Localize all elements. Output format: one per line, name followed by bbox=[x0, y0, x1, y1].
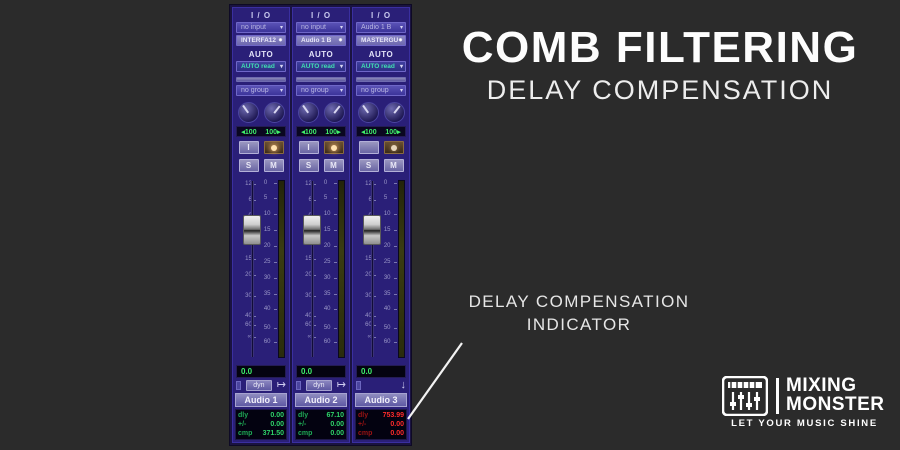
level-meter: 05101520253035405060 bbox=[264, 177, 286, 363]
level-meter: 05101520253035405060 bbox=[324, 177, 346, 363]
input-select[interactable]: no input▾ bbox=[296, 22, 346, 33]
record-arm-button[interactable] bbox=[324, 141, 344, 154]
meter-scale-label: 0 bbox=[384, 180, 387, 186]
meter-bar bbox=[398, 180, 405, 358]
delay-value: 0.00 bbox=[330, 429, 344, 438]
input-record-row: I bbox=[233, 138, 289, 156]
delay-key: cmp bbox=[298, 429, 312, 438]
delay-row: cmp0.00 bbox=[298, 429, 344, 438]
pan-knob-left[interactable] bbox=[358, 102, 379, 123]
chevron-down-icon: ▾ bbox=[280, 86, 283, 96]
automation-mode-select[interactable]: AUTO read▾ bbox=[236, 61, 286, 72]
strip-resize-handle[interactable] bbox=[236, 381, 241, 390]
meter-tick bbox=[274, 278, 277, 279]
input-record-row: I bbox=[293, 138, 349, 156]
meter-tick bbox=[274, 198, 277, 199]
input-select[interactable]: Audio 1 B▾ bbox=[356, 22, 406, 33]
delay-row: cmp0.00 bbox=[358, 429, 404, 438]
meter-scale-label: 15 bbox=[324, 227, 331, 233]
meter-tick bbox=[274, 183, 277, 184]
pan-value-display: ◂100100▸ bbox=[236, 126, 286, 137]
meter-scale-label: 15 bbox=[264, 227, 271, 233]
pan-knob-left[interactable] bbox=[238, 102, 259, 123]
mute-button[interactable]: M bbox=[324, 159, 344, 172]
meter-scale-label: 60 bbox=[264, 339, 271, 345]
pan-value-display: ◂100100▸ bbox=[356, 126, 406, 137]
chevron-down-icon: ▾ bbox=[280, 62, 283, 72]
record-arm-button[interactable] bbox=[384, 141, 404, 154]
knob-row bbox=[233, 98, 289, 125]
knob-row bbox=[293, 98, 349, 125]
meter-scale: 05101520253035405060 bbox=[384, 177, 397, 363]
logo-tagline: LET YOUR MUSIC SHINE bbox=[722, 418, 887, 429]
meter-scale-label: 10 bbox=[384, 211, 391, 217]
meter-scale-label: 25 bbox=[324, 259, 331, 265]
meter-bar bbox=[278, 180, 285, 358]
group-select[interactable]: no group▾ bbox=[356, 85, 406, 96]
input-monitor-button[interactable]: I bbox=[299, 141, 319, 154]
delay-compensation-indicator: dly67.10+/-0.00cmp0.00 bbox=[295, 409, 347, 440]
volume-fader[interactable]: 12605101520304060∞ bbox=[356, 177, 382, 363]
channel-name-label[interactable]: Audio 2 bbox=[295, 393, 347, 407]
fader-handle[interactable] bbox=[303, 215, 321, 245]
pan-value-right: 100▸ bbox=[325, 128, 340, 136]
meter-scale-label: 0 bbox=[324, 180, 327, 186]
section-divider bbox=[296, 77, 346, 82]
fader-meter-area: 12605101520304060∞05101520253035405060 bbox=[233, 174, 289, 363]
volume-fader[interactable]: 12605101520304060∞ bbox=[296, 177, 322, 363]
meter-scale-label: 20 bbox=[384, 243, 391, 249]
meter-tick bbox=[334, 278, 337, 279]
meter-scale: 05101520253035405060 bbox=[264, 177, 277, 363]
chevron-down-icon: ▾ bbox=[340, 62, 343, 72]
meter-tick bbox=[394, 309, 397, 310]
delay-compensation-indicator: dly0.00+/-0.00cmp371.50 bbox=[235, 409, 287, 440]
automation-mode-select[interactable]: AUTO read▾ bbox=[356, 61, 406, 72]
io-section-label: I / O bbox=[233, 8, 289, 22]
pan-value-display: ◂100100▸ bbox=[296, 126, 346, 137]
delay-value: 371.50 bbox=[263, 429, 284, 438]
fader-track bbox=[311, 181, 314, 357]
input-record-row bbox=[353, 138, 409, 156]
delay-key: dly bbox=[238, 411, 248, 420]
meter-scale-label: 35 bbox=[264, 291, 271, 297]
screenshot-root: I / Ono input▾INTERFA12⁕AUTOAUTO read▾no… bbox=[0, 0, 900, 450]
meter-scale-label: 10 bbox=[324, 211, 331, 217]
delay-row: cmp371.50 bbox=[238, 429, 284, 438]
group-select[interactable]: no group▾ bbox=[296, 85, 346, 96]
meter-scale-label: 5 bbox=[264, 195, 267, 201]
delay-key: cmp bbox=[358, 429, 372, 438]
fader-meter-area: 12605101520304060∞05101520253035405060 bbox=[293, 174, 349, 363]
logo-name-line-1: MIXING bbox=[786, 376, 885, 395]
meter-scale-label: 40 bbox=[264, 306, 271, 312]
callout-label: DELAY COMPENSATION INDICATOR bbox=[440, 290, 718, 336]
pan-knob-right[interactable] bbox=[384, 102, 405, 123]
meter-scale-label: 40 bbox=[384, 306, 391, 312]
gain-display[interactable]: 0.0 bbox=[236, 365, 286, 378]
delay-key: +/- bbox=[238, 420, 246, 429]
meter-tick bbox=[394, 294, 397, 295]
logo-name-line-2: MONSTER bbox=[786, 395, 885, 414]
io-section-label: I / O bbox=[353, 8, 409, 22]
delay-value: 0.00 bbox=[270, 420, 284, 429]
output-pin-icon: ⁕ bbox=[278, 36, 283, 46]
delay-row: dly753.99 bbox=[358, 411, 404, 420]
delay-row: +/-0.00 bbox=[358, 420, 404, 429]
page-subtitle: DELAY COMPENSATION bbox=[436, 74, 884, 106]
meter-scale-label: 60 bbox=[324, 339, 331, 345]
meter-tick bbox=[394, 278, 397, 279]
meter-scale-label: 50 bbox=[264, 325, 271, 331]
meter-scale-label: 25 bbox=[264, 259, 271, 265]
logo-wordmark: MIXING MONSTER bbox=[786, 376, 885, 414]
volume-fader[interactable]: 12605101520304060∞ bbox=[236, 177, 262, 363]
meter-scale-label: 50 bbox=[384, 325, 391, 331]
pan-value-left: ◂100 bbox=[361, 128, 376, 136]
section-divider bbox=[356, 77, 406, 82]
delay-key: dly bbox=[358, 411, 368, 420]
meter-tick bbox=[334, 342, 337, 343]
meter-tick bbox=[394, 230, 397, 231]
meter-tick bbox=[274, 230, 277, 231]
meter-tick bbox=[334, 230, 337, 231]
knob-row bbox=[353, 98, 409, 125]
meter-tick bbox=[274, 328, 277, 329]
pan-value-left: ◂100 bbox=[241, 128, 256, 136]
dynamics-row: dyn↦ bbox=[293, 379, 349, 393]
meter-scale-label: 5 bbox=[384, 195, 387, 201]
meter-scale-label: 40 bbox=[324, 306, 331, 312]
meter-tick bbox=[394, 262, 397, 263]
meter-tick bbox=[274, 262, 277, 263]
automation-label: AUTO bbox=[353, 48, 409, 61]
delay-row: dly67.10 bbox=[298, 411, 344, 420]
channel-strip-1: I / Ono input▾INTERFA12⁕AUTOAUTO read▾no… bbox=[232, 7, 290, 443]
delay-row: dly0.00 bbox=[238, 411, 284, 420]
output-select[interactable]: INTERFA12⁕ bbox=[236, 35, 286, 46]
meter-scale-label: 25 bbox=[384, 259, 391, 265]
delay-key: +/- bbox=[358, 420, 366, 429]
meter-scale-label: 30 bbox=[384, 275, 391, 281]
solo-button[interactable]: S bbox=[299, 159, 319, 172]
callout-line-1: DELAY COMPENSATION bbox=[440, 290, 718, 313]
meter-tick bbox=[334, 294, 337, 295]
automation-label: AUTO bbox=[293, 48, 349, 61]
input-select[interactable]: no input▾ bbox=[236, 22, 286, 33]
insert-arrow-icon[interactable]: ↦ bbox=[337, 380, 346, 391]
fader-track bbox=[251, 181, 254, 357]
meter-tick bbox=[394, 183, 397, 184]
brand-logo: MIXING MONSTER LET YOUR MUSIC SHINE bbox=[722, 376, 887, 432]
output-pin-icon: ⁕ bbox=[338, 36, 343, 46]
meter-scale-label: 5 bbox=[324, 195, 327, 201]
dynamics-button[interactable]: dyn bbox=[306, 380, 332, 391]
delay-value: 0.00 bbox=[270, 411, 284, 420]
record-arm-button[interactable] bbox=[264, 141, 284, 154]
solo-mute-row: SM bbox=[353, 156, 409, 174]
solo-mute-row: SM bbox=[293, 156, 349, 174]
meter-scale-label: 0 bbox=[264, 180, 267, 186]
chevron-down-icon: ▾ bbox=[400, 62, 403, 72]
callout-line-2: INDICATOR bbox=[440, 313, 718, 336]
pan-knob-left[interactable] bbox=[298, 102, 319, 123]
meter-tick bbox=[334, 183, 337, 184]
logo-divider bbox=[776, 378, 779, 414]
meter-tick bbox=[394, 214, 397, 215]
output-select[interactable]: MASTERGU⁕ bbox=[356, 35, 406, 46]
meter-scale: 05101520253035405060 bbox=[324, 177, 337, 363]
page-title: COMB FILTERING bbox=[436, 24, 884, 72]
delay-value: 0.00 bbox=[390, 429, 404, 438]
chevron-down-icon: ▾ bbox=[400, 23, 403, 33]
insert-arrow-icon[interactable]: ↦ bbox=[277, 380, 286, 391]
pan-value-right: 100▸ bbox=[385, 128, 400, 136]
chevron-down-icon: ▾ bbox=[340, 23, 343, 33]
meter-tick bbox=[334, 328, 337, 329]
meter-tick bbox=[334, 262, 337, 263]
meter-tick bbox=[394, 342, 397, 343]
group-select[interactable]: no group▾ bbox=[236, 85, 286, 96]
section-divider bbox=[236, 77, 286, 82]
delay-key: +/- bbox=[298, 420, 306, 429]
meter-scale-label: 35 bbox=[384, 291, 391, 297]
solo-mute-row: SM bbox=[233, 156, 289, 174]
meter-tick bbox=[394, 246, 397, 247]
dynamics-row: dyn↦ bbox=[233, 379, 289, 393]
mute-button[interactable]: M bbox=[384, 159, 404, 172]
pan-knob-right[interactable] bbox=[324, 102, 345, 123]
meter-tick bbox=[394, 328, 397, 329]
solo-button[interactable]: S bbox=[239, 159, 259, 172]
meter-scale-label: 30 bbox=[324, 275, 331, 281]
meter-tick bbox=[274, 246, 277, 247]
output-pin-icon: ⁕ bbox=[398, 36, 403, 46]
pan-value-left: ◂100 bbox=[301, 128, 316, 136]
delay-row: +/-0.00 bbox=[298, 420, 344, 429]
callout-pointer-line bbox=[400, 335, 470, 425]
solo-button[interactable]: S bbox=[359, 159, 379, 172]
fader-handle[interactable] bbox=[363, 215, 381, 245]
meter-tick bbox=[274, 342, 277, 343]
delay-key: dly bbox=[298, 411, 308, 420]
meter-scale-label: 15 bbox=[384, 227, 391, 233]
channel-strip-2: I / Ono input▾Audio 1 B⁕AUTOAUTO read▾no… bbox=[292, 7, 350, 443]
gain-display[interactable]: 0.0 bbox=[296, 365, 346, 378]
automation-label: AUTO bbox=[233, 48, 289, 61]
chevron-down-icon: ▾ bbox=[340, 86, 343, 96]
io-section-label: I / O bbox=[293, 8, 349, 22]
gain-display[interactable]: 0.0 bbox=[356, 365, 406, 378]
input-monitor-button[interactable] bbox=[359, 141, 379, 154]
pan-value-right: 100▸ bbox=[265, 128, 280, 136]
meter-scale-label: 35 bbox=[324, 291, 331, 297]
mixer-panel: I / Ono input▾INTERFA12⁕AUTOAUTO read▾no… bbox=[229, 4, 412, 446]
meter-tick bbox=[274, 214, 277, 215]
mixer-console-icon bbox=[722, 376, 768, 416]
meter-tick bbox=[394, 198, 397, 199]
pan-knob-right[interactable] bbox=[264, 102, 285, 123]
meter-tick bbox=[274, 294, 277, 295]
fader-track bbox=[371, 181, 374, 357]
meter-scale-label: 30 bbox=[264, 275, 271, 281]
automation-mode-select[interactable]: AUTO read▾ bbox=[296, 61, 346, 72]
meter-tick bbox=[334, 198, 337, 199]
meter-scale-label: 50 bbox=[324, 325, 331, 331]
meter-tick bbox=[334, 246, 337, 247]
input-monitor-button[interactable]: I bbox=[239, 141, 259, 154]
meter-bar bbox=[338, 180, 345, 358]
channel-name-label[interactable]: Audio 1 bbox=[235, 393, 287, 407]
meter-tick bbox=[274, 309, 277, 310]
delay-row: +/-0.00 bbox=[238, 420, 284, 429]
mute-button[interactable]: M bbox=[264, 159, 284, 172]
dynamics-button[interactable]: dyn bbox=[246, 380, 272, 391]
chevron-down-icon: ▾ bbox=[280, 23, 283, 33]
chevron-down-icon: ▾ bbox=[400, 86, 403, 96]
fader-handle[interactable] bbox=[243, 215, 261, 245]
strip-resize-handle[interactable] bbox=[296, 381, 301, 390]
strip-resize-handle[interactable] bbox=[356, 381, 361, 390]
meter-tick bbox=[334, 309, 337, 310]
delay-value: 0.00 bbox=[330, 420, 344, 429]
delay-key: cmp bbox=[238, 429, 252, 438]
meter-scale-label: 10 bbox=[264, 211, 271, 217]
delay-value: 67.10 bbox=[326, 411, 344, 420]
meter-scale-label: 20 bbox=[324, 243, 331, 249]
meter-scale-label: 20 bbox=[264, 243, 271, 249]
meter-scale-label: 60 bbox=[384, 339, 391, 345]
output-select[interactable]: Audio 1 B⁕ bbox=[296, 35, 346, 46]
meter-tick bbox=[334, 214, 337, 215]
